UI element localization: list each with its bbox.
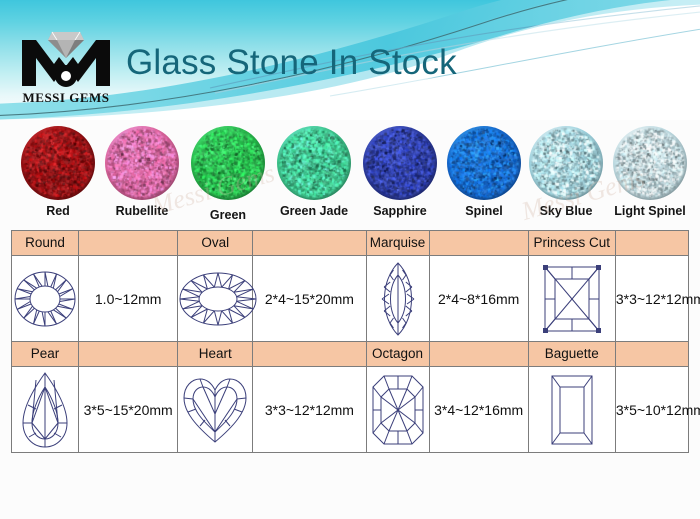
- size-range-cell: 2*4~15*20mm: [253, 256, 366, 342]
- round-gem-icon: [13, 267, 77, 331]
- messi-m-diamond-icon: [16, 28, 116, 92]
- gem-pile-image: [186, 124, 270, 202]
- gem-pile-image: [100, 124, 184, 202]
- pear-gem-icon: [20, 371, 70, 449]
- heart-gem-icon: [182, 374, 248, 446]
- gem-pile: [363, 126, 437, 200]
- oval-gem-icon: [178, 269, 258, 329]
- gem-pile: [21, 126, 95, 200]
- shape-name-header: Round: [12, 231, 79, 256]
- swatch-label: Sky Blue: [524, 204, 608, 218]
- table-header-row: RoundOvalMarquisePrincess Cut: [12, 231, 689, 256]
- header-spacer-cell: [429, 231, 528, 256]
- header-spacer-cell: [253, 231, 366, 256]
- octagon-gem-icon: [370, 373, 426, 447]
- shape-name-label: Pear: [12, 343, 78, 365]
- header-spacer-cell: [79, 231, 178, 256]
- table-row: 1.0~12mm2*4~15*20mm2*4~8*16mm3*3~12*12mm: [12, 256, 689, 342]
- gem-pile-image: [524, 124, 608, 202]
- shape-name-header: Baguette: [528, 342, 615, 367]
- shape-name-label: Round: [12, 232, 78, 254]
- size-range-cell: 1.0~12mm: [79, 256, 178, 342]
- shape-name-label: Marquise: [367, 232, 429, 254]
- swatch-green: Green: [186, 124, 270, 226]
- table-header-row: PearHeartOctagonBaguette: [12, 342, 689, 367]
- swatch-sapphire: Sapphire: [358, 124, 442, 226]
- gem-pile-image: [442, 124, 526, 202]
- gem-pile: [613, 126, 687, 200]
- shape-name-header: Oval: [178, 231, 253, 256]
- swatch-green-jade: Green Jade: [272, 124, 356, 226]
- shape-name-header: Pear: [12, 342, 79, 367]
- shape-size-table-body: RoundOvalMarquisePrincess Cut1.0~12mm2*4…: [12, 231, 689, 453]
- swatch-label: Red: [16, 204, 100, 218]
- swatch-rubellite: Rubellite: [100, 124, 184, 226]
- swatch-label: Green: [186, 208, 270, 222]
- table-row: 3*5~15*20mm3*3~12*12mm3*4~12*16mm3*5~10*…: [12, 367, 689, 453]
- size-range-cell: 3*5~15*20mm: [79, 367, 178, 453]
- gem-pile-image: [272, 124, 356, 202]
- header-spacer-cell: [79, 342, 178, 367]
- swatch-label: Sapphire: [358, 204, 442, 218]
- shape-image-cell: [12, 367, 79, 453]
- swatch-red: Red: [16, 124, 100, 226]
- gem-pile: [447, 126, 521, 200]
- size-range-cell: 2*4~8*16mm: [429, 256, 528, 342]
- slide-root: MESSI GEMS Glass Stone In Stock RedRubel…: [0, 0, 700, 519]
- size-range-cell: 3*3~12*12mm: [253, 367, 366, 453]
- gem-pile-image: [16, 124, 100, 202]
- logo-wordmark: MESSI GEMS: [16, 90, 116, 106]
- gem-pile-image: [358, 124, 442, 202]
- shape-name-label: Octagon: [367, 343, 429, 365]
- swatch-label: Rubellite: [100, 204, 184, 218]
- shape-name-header: Heart: [178, 342, 253, 367]
- page-title: Glass Stone In Stock: [126, 44, 457, 82]
- shape-name-label: Princess Cut: [529, 232, 615, 254]
- header-spacer-cell: [615, 342, 688, 367]
- gem-pile: [191, 126, 265, 200]
- gem-color-swatch-strip: RedRubelliteGreenGreen JadeSapphireSpine…: [0, 124, 700, 226]
- shape-name-label: Heart: [178, 343, 252, 365]
- gem-pile-image: [608, 124, 692, 202]
- header-spacer-cell: [429, 342, 528, 367]
- shape-name-label: Oval: [178, 232, 252, 254]
- shape-name-header: Princess Cut: [528, 231, 615, 256]
- shape-image-cell: [178, 256, 253, 342]
- swatch-light-spinel: Light Spinel: [608, 124, 692, 226]
- size-range-cell: 3*5~10*12mm: [615, 367, 688, 453]
- gem-pile: [529, 126, 603, 200]
- baguette-gem-icon: [549, 373, 595, 447]
- swatch-label: Green Jade: [272, 204, 356, 218]
- shape-image-cell: [366, 367, 429, 453]
- shape-image-cell: [528, 367, 615, 453]
- diamond-icon: [48, 32, 84, 58]
- shape-image-cell: [366, 256, 429, 342]
- header-spacer-cell: [615, 231, 688, 256]
- size-range-cell: 3*4~12*16mm: [429, 367, 528, 453]
- shape-size-table: RoundOvalMarquisePrincess Cut1.0~12mm2*4…: [11, 230, 689, 453]
- shape-image-cell: [178, 367, 253, 453]
- shape-name-header: Marquise: [366, 231, 429, 256]
- princess-gem-icon: [542, 264, 602, 334]
- shape-image-cell: [528, 256, 615, 342]
- header-spacer-cell: [253, 342, 366, 367]
- marquise-gem-icon: [376, 261, 420, 337]
- gem-pile: [277, 126, 351, 200]
- shape-name-header: Octagon: [366, 342, 429, 367]
- swatch-label: Light Spinel: [608, 204, 692, 218]
- brand-logo: MESSI GEMS: [16, 28, 116, 110]
- shape-name-label: Baguette: [529, 343, 615, 365]
- swatch-label: Spinel: [442, 204, 526, 218]
- gem-pile: [105, 126, 179, 200]
- swatch-spinel: Spinel: [442, 124, 526, 226]
- size-range-cell: 3*3~12*12mm: [615, 256, 688, 342]
- shape-image-cell: [12, 256, 79, 342]
- swatch-sky-blue: Sky Blue: [524, 124, 608, 226]
